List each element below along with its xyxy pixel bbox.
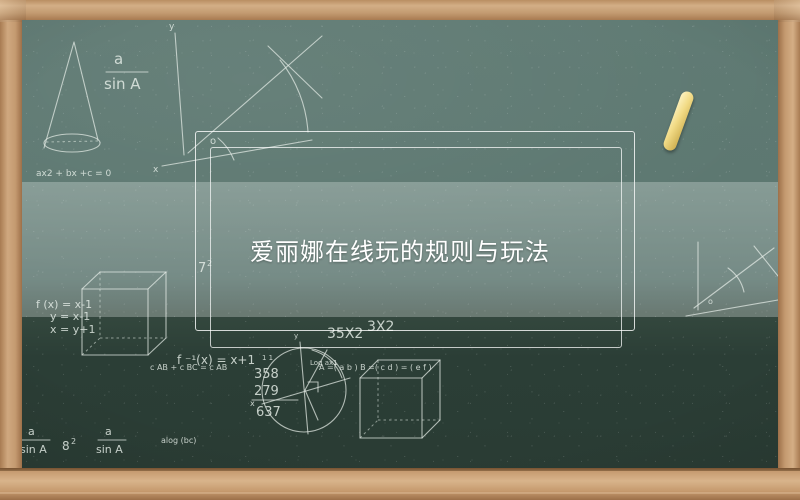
frame-right-rail	[778, 0, 800, 500]
frame-corner-top-left	[0, 0, 26, 22]
frame-left-rail	[0, 0, 22, 500]
frame-top-rail	[0, 0, 800, 20]
chalkboard-surface: a sin A y x o ax2 + bx +c = 0	[22, 20, 778, 468]
chalkboard-banner: a sin A y x o ax2 + bx +c = 0	[0, 0, 800, 500]
svg-text:x: x	[250, 399, 255, 408]
chalk-matrix-row: A =( a b ) B =( c d ) = ( e f )	[319, 363, 432, 372]
frame-bottom-ledge	[0, 468, 800, 500]
page-title: 爱丽娜在线玩的规则与玩法	[22, 182, 778, 317]
frame-corner-top-right	[774, 0, 800, 22]
